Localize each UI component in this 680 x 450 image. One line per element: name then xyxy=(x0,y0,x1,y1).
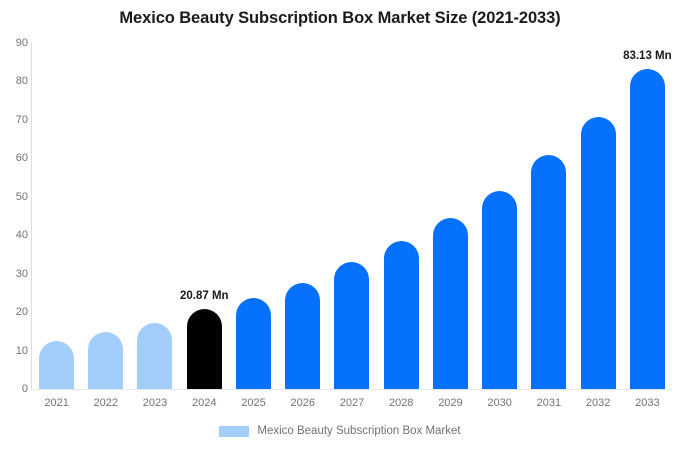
x-axis-labels: 2021202220232024202520262027202820292030… xyxy=(32,397,672,415)
x-axis-line xyxy=(31,389,672,390)
x-axis-tick-label: 2027 xyxy=(327,397,376,409)
bar[interactable] xyxy=(581,117,616,389)
plot-area: 20.87 Mn83.13 Mn xyxy=(32,43,672,389)
y-axis-tick-label: 80 xyxy=(2,75,28,87)
bar-value-label: 20.87 Mn xyxy=(180,290,229,302)
y-axis-tick-label: 0 xyxy=(2,383,28,395)
x-axis-tick-label: 2032 xyxy=(574,397,623,409)
bar[interactable] xyxy=(137,323,172,390)
bar[interactable] xyxy=(187,309,222,389)
bar-chart: Mexico Beauty Subscription Box Market Si… xyxy=(0,0,680,450)
x-axis-tick-label: 2033 xyxy=(623,397,672,409)
bar[interactable] xyxy=(88,332,123,389)
x-axis-tick-label: 2025 xyxy=(229,397,278,409)
bar[interactable] xyxy=(334,262,369,389)
x-axis-tick-label: 2029 xyxy=(426,397,475,409)
bar-slot xyxy=(278,43,327,389)
x-axis-tick-label: 2024 xyxy=(180,397,229,409)
bar-slot xyxy=(377,43,426,389)
y-axis-tick-label: 90 xyxy=(2,37,28,49)
legend-label: Mexico Beauty Subscription Box Market xyxy=(257,425,460,437)
bar-slot xyxy=(574,43,623,389)
y-axis-ticks: 0102030405060708090 xyxy=(0,0,28,450)
x-axis-tick-label: 2022 xyxy=(81,397,130,409)
bar[interactable] xyxy=(630,69,665,389)
y-axis-tick-label: 20 xyxy=(2,306,28,318)
chart-title: Mexico Beauty Subscription Box Market Si… xyxy=(0,9,680,28)
bar-slot xyxy=(426,43,475,389)
y-axis-tick-label: 40 xyxy=(2,229,28,241)
bar-slot: 83.13 Mn xyxy=(623,43,672,389)
bar-slot xyxy=(327,43,376,389)
y-axis-tick-label: 50 xyxy=(2,191,28,203)
bar-slot: 20.87 Mn xyxy=(180,43,229,389)
bars-layer: 20.87 Mn83.13 Mn xyxy=(32,43,672,389)
bar[interactable] xyxy=(236,298,271,389)
bar-slot xyxy=(475,43,524,389)
bar-slot xyxy=(524,43,573,389)
bar-slot xyxy=(229,43,278,389)
legend-swatch-icon xyxy=(219,426,249,437)
y-axis-tick-label: 70 xyxy=(2,114,28,126)
bar[interactable] xyxy=(531,155,566,389)
chart-legend: Mexico Beauty Subscription Box Market xyxy=(0,425,680,437)
y-axis-tick-label: 10 xyxy=(2,345,28,357)
bar-slot xyxy=(32,43,81,389)
bar[interactable] xyxy=(384,241,419,389)
bar[interactable] xyxy=(39,341,74,389)
x-axis-tick-label: 2021 xyxy=(32,397,81,409)
bar[interactable] xyxy=(482,191,517,389)
x-axis-tick-label: 2028 xyxy=(377,397,426,409)
y-axis-tick-label: 30 xyxy=(2,268,28,280)
bar-slot xyxy=(130,43,179,389)
x-axis-tick-label: 2031 xyxy=(524,397,573,409)
bar[interactable] xyxy=(433,218,468,389)
x-axis-tick-label: 2026 xyxy=(278,397,327,409)
x-axis-tick-label: 2023 xyxy=(130,397,179,409)
y-axis-tick-label: 60 xyxy=(2,152,28,164)
bar-slot xyxy=(81,43,130,389)
bar-value-label: 83.13 Mn xyxy=(623,50,672,62)
x-axis-tick-label: 2030 xyxy=(475,397,524,409)
bar[interactable] xyxy=(285,283,320,389)
